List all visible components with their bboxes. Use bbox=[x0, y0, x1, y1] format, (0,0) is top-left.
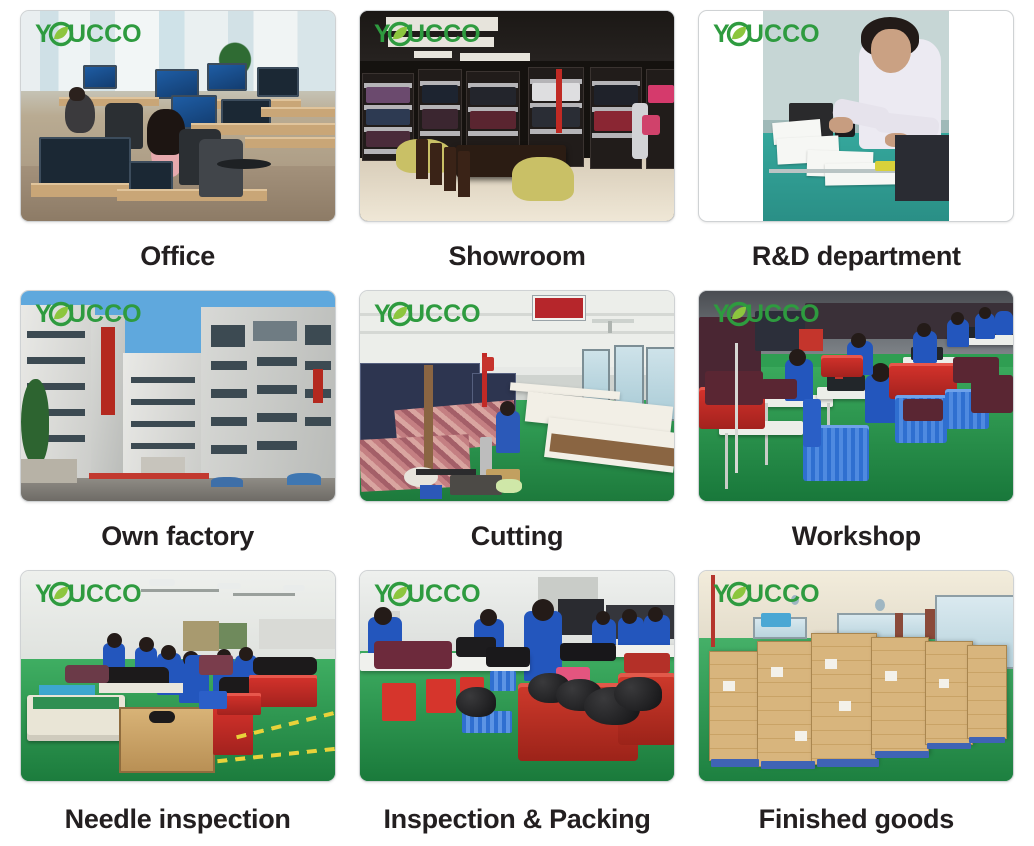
gallery-cell: YUCCO Needle inspection bbox=[8, 570, 347, 846]
gallery-cell: YUCCO Cutting bbox=[347, 290, 686, 570]
photo-finished-goods bbox=[699, 571, 1013, 781]
photo-caption: Inspection & Packing bbox=[383, 806, 650, 833]
gallery-cell: YUCCO Finished goods bbox=[687, 570, 1026, 846]
gallery-cell: YUCCO Workshop bbox=[687, 290, 1026, 570]
gallery-card-inspection-packing[interactable]: YUCCO bbox=[359, 570, 675, 782]
photo-caption: Finished goods bbox=[759, 806, 954, 833]
photo-caption: Cutting bbox=[471, 523, 563, 550]
photo-needle-inspection bbox=[21, 571, 335, 781]
photo-workshop bbox=[699, 291, 1013, 501]
photo-caption: Workshop bbox=[792, 523, 921, 550]
gallery-card-showroom[interactable]: YUCCO bbox=[359, 10, 675, 222]
gallery-cell: YUCCO Inspection & Packing bbox=[347, 570, 686, 846]
gallery-card-cutting[interactable]: YUCCO bbox=[359, 290, 675, 502]
gallery-cell: YUCCO Office bbox=[8, 10, 347, 290]
photo-caption: Showroom bbox=[448, 243, 585, 270]
gallery-card-own-factory[interactable]: YUCCO bbox=[20, 290, 336, 502]
photo-cutting bbox=[360, 291, 674, 501]
svg-text:Y: Y bbox=[713, 21, 730, 47]
photo-showroom bbox=[360, 11, 674, 221]
photo-own-factory bbox=[21, 291, 335, 501]
gallery-card-office[interactable]: YUCCO bbox=[20, 10, 336, 222]
gallery-card-workshop[interactable]: YUCCO bbox=[698, 290, 1014, 502]
photo-caption: R&D department bbox=[752, 243, 961, 270]
gallery-cell: YUCCO Own factory bbox=[8, 290, 347, 570]
gallery-card-rnd-department[interactable]: YUCCO bbox=[698, 10, 1014, 222]
photo-inspection-packing bbox=[360, 571, 674, 781]
photo-caption: Office bbox=[140, 243, 215, 270]
gallery-card-finished-goods[interactable]: YUCCO bbox=[698, 570, 1014, 782]
gallery-card-needle-inspection[interactable]: YUCCO bbox=[20, 570, 336, 782]
photo-office bbox=[21, 11, 335, 221]
photo-caption: Needle inspection bbox=[65, 806, 291, 833]
gallery-cell: YUCCO R&D department bbox=[687, 10, 1026, 290]
photo-rnd-department bbox=[763, 11, 949, 221]
photo-caption: Own factory bbox=[101, 523, 254, 550]
factory-photo-gallery: YUCCO Office bbox=[0, 0, 1034, 846]
gallery-cell: YUCCO Showroom bbox=[347, 10, 686, 290]
